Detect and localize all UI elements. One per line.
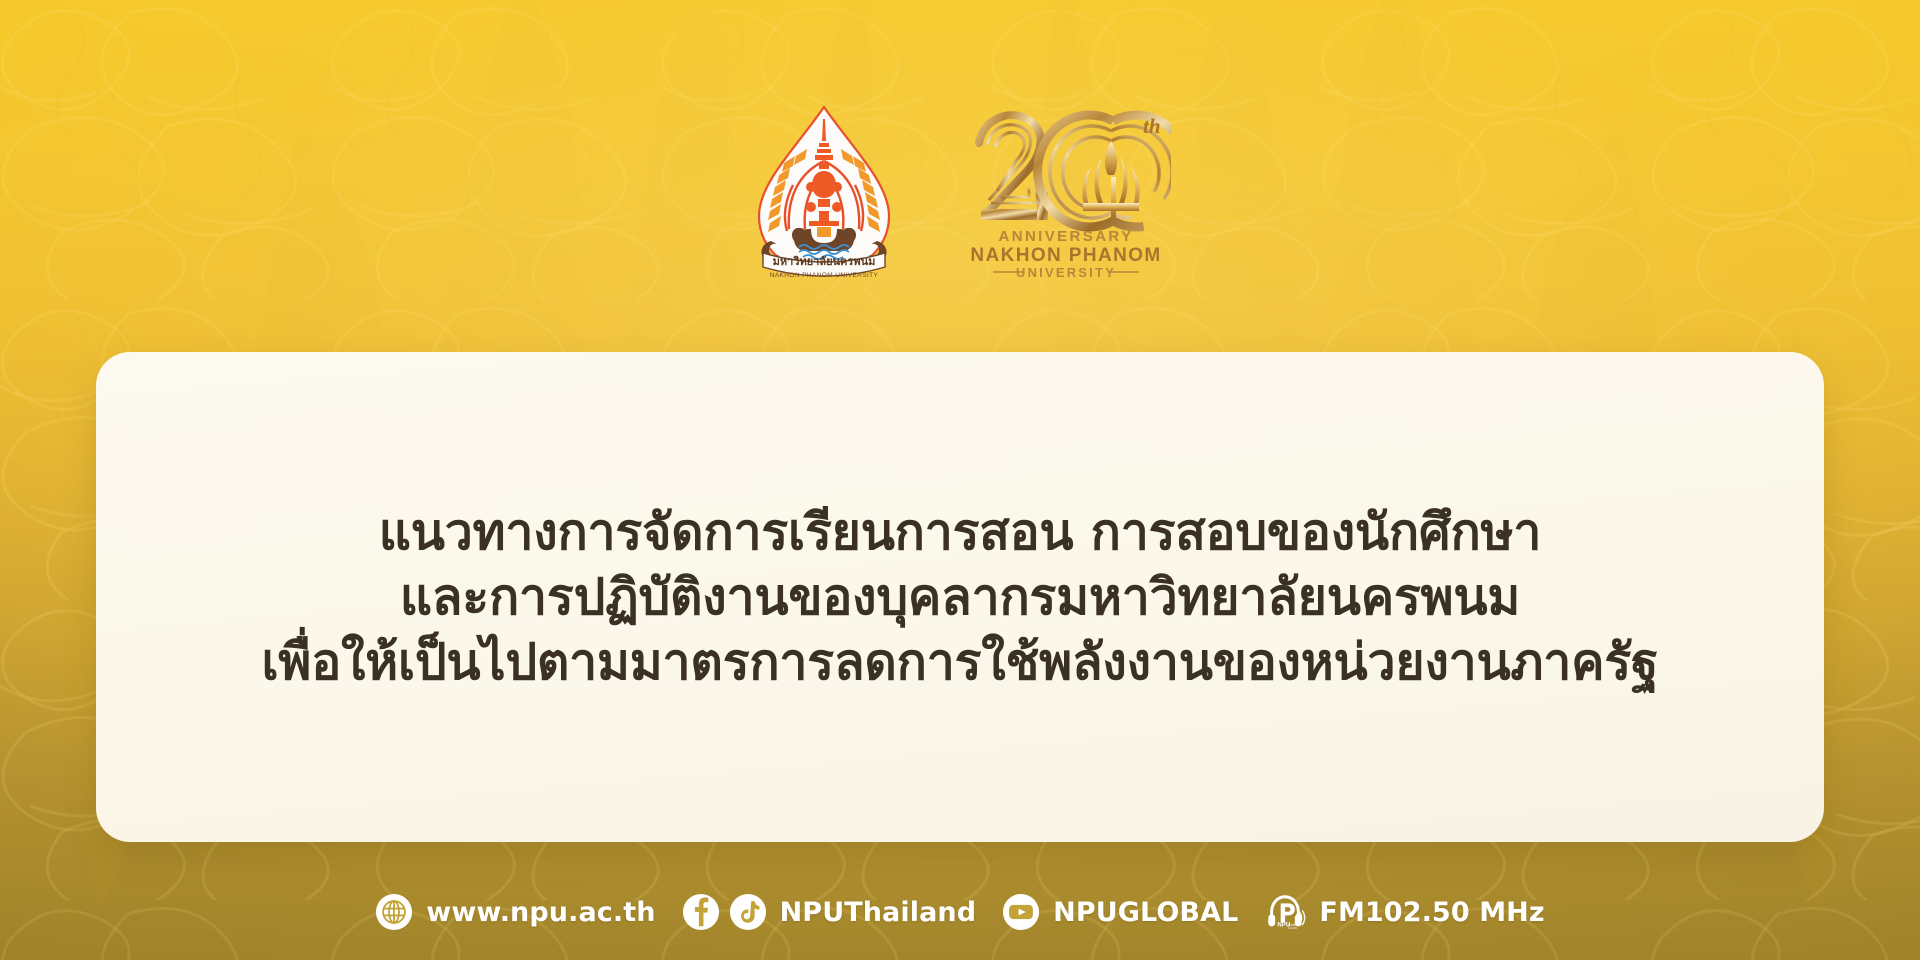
footer-social-label: NPUThailand: [780, 897, 977, 928]
announcement-card: แนวทางการจัดการเรียนการสอน การสอบของนักศ…: [96, 352, 1824, 842]
poster-canvas: มหาวิทยาลัยนครพนม NAKHON PHANOM UNIVERSI…: [0, 0, 1920, 960]
headline-text: แนวทางการจัดการเรียนการสอน การสอบของนักศ…: [214, 500, 1707, 695]
youtube-icon: [1002, 893, 1040, 931]
svg-text:ANNIVERSARY: ANNIVERSARY: [998, 228, 1133, 245]
footer-youtube-label: NPUGLOBAL: [1053, 897, 1238, 928]
svg-text:NAKHON PHANOM UNIVERSITY: NAKHON PHANOM UNIVERSITY: [770, 272, 879, 279]
footer-radio-label: FM102.50 MHz: [1319, 897, 1544, 928]
svg-text:มหาวิทยาลัยนครพนม: มหาวิทยาลัยนครพนม: [773, 255, 876, 268]
svg-text:th: th: [1143, 114, 1161, 138]
radio-npu-icon: NPU Radio 102.50: [1264, 891, 1306, 933]
footer-website-label: www.npu.ac.th: [426, 897, 655, 928]
svg-text:102.50: 102.50: [1288, 926, 1297, 930]
footer-item-youtube[interactable]: NPUGLOBAL: [1002, 893, 1238, 931]
tiktok-icon[interactable]: [729, 893, 767, 931]
20th-anniversary-logo-icon: th ANNIVERSARY NAKHON PHANOM UNIVERSITY: [961, 101, 1171, 281]
footer-item-radio[interactable]: NPU Radio 102.50 FM102.50 MHz: [1264, 891, 1544, 933]
headline-line-3: เพื่อให้เป็นไปตามมาตรการลดการใช้พลังงานข…: [262, 630, 1659, 695]
svg-text:NAKHON PHANOM: NAKHON PHANOM: [970, 245, 1161, 266]
footer-contact-bar: www.npu.ac.th NPUThailand: [0, 880, 1920, 944]
npu-university-seal-icon: มหาวิทยาลัยนครพนม NAKHON PHANOM UNIVERSI…: [749, 101, 899, 281]
footer-item-social[interactable]: NPUThailand: [682, 893, 977, 931]
headline-line-2: และการปฏิบัติงานของบุคลากรมหาวิทยาลัยนคร…: [262, 565, 1659, 630]
facebook-icon[interactable]: [682, 893, 720, 931]
social-icon-pair: [682, 893, 767, 931]
globe-icon: [375, 893, 413, 931]
headline-line-1: แนวทางการจัดการเรียนการสอน การสอบของนักศ…: [262, 500, 1659, 565]
svg-text:UNIVERSITY: UNIVERSITY: [1016, 265, 1116, 280]
logo-row: มหาวิทยาลัยนครพนม NAKHON PHANOM UNIVERSI…: [0, 96, 1920, 286]
footer-item-website[interactable]: www.npu.ac.th: [375, 893, 655, 931]
